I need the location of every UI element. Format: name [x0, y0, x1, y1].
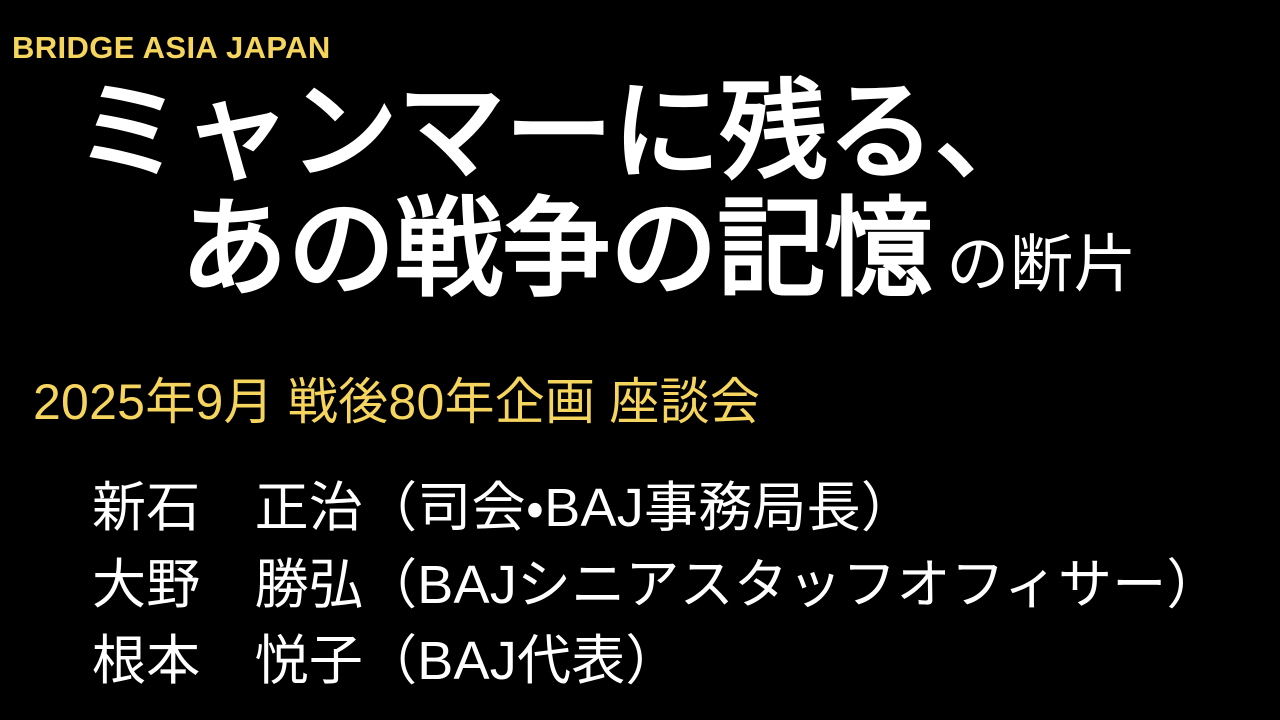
title-slide: BRIDGE ASIA JAPAN ミャンマーに残る、 あの戦争の記憶の断片 2… — [0, 0, 1280, 720]
headline-subphrase: の断片 — [946, 230, 1137, 300]
headline: ミャンマーに残る、 あの戦争の記憶の断片 — [0, 78, 1280, 303]
headline-line-2-text: あの戦争の記憶 — [180, 188, 932, 309]
headline-line-1: ミャンマーに残る、 — [0, 78, 1280, 186]
headline-line-1-text: ミャンマーに残る、 — [75, 71, 1042, 192]
participant-row: 根本 悦子（BAJ代表） — [92, 623, 1272, 700]
participant-list: 新石 正治（司会・BAJ事務局長） 大野 勝弘（BAJシニアスタッフオフィサー）… — [92, 470, 1272, 700]
event-subtitle: 2025年9月 戦後80年企画 座談会 — [33, 371, 760, 434]
headline-line-2: あの戦争の記憶の断片 — [0, 195, 1280, 303]
organization-name: BRIDGE ASIA JAPAN — [12, 32, 331, 63]
participant-row: 新石 正治（司会・BAJ事務局長） — [92, 470, 1272, 547]
participant-row: 大野 勝弘（BAJシニアスタッフオフィサー） — [92, 547, 1272, 624]
